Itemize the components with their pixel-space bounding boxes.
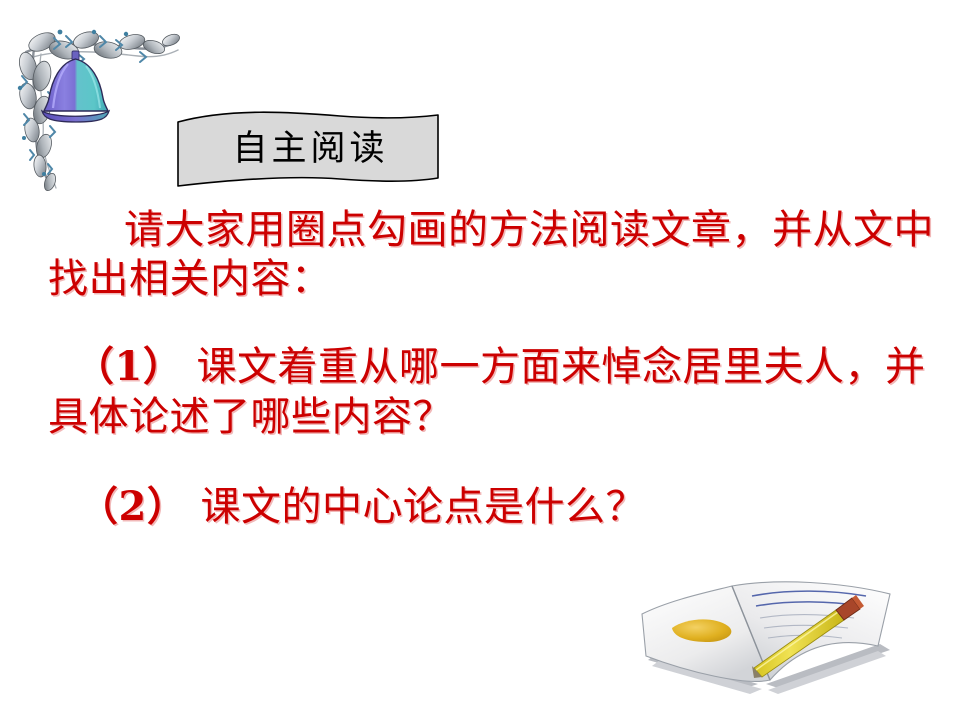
slide-canvas: 自主阅读 请大家用圈点勾画的方法阅读文章，并从文中找出相关内容： （1） 课文着… (0, 0, 960, 720)
bell-icon (42, 51, 109, 122)
open-book-with-pencil-icon (628, 576, 924, 708)
question-2-paragraph: （2） 课文的中心论点是什么？ (48, 482, 938, 532)
intro-paragraph: 请大家用圈点勾画的方法阅读文章，并从文中找出相关内容： (48, 206, 938, 304)
question-2-text: 课文的中心论点是什么？ (187, 484, 646, 530)
question-1-number: （1） (74, 343, 183, 390)
question-2-number: （2） (78, 483, 187, 530)
body-text-block: 请大家用圈点勾画的方法阅读文章，并从文中找出相关内容： （1） 课文着重从哪一方… (48, 206, 938, 532)
title-banner-shape (170, 106, 445, 192)
question-1-paragraph: （1） 课文着重从哪一方面来悼念居里夫人，并具体论述了哪些内容？ (48, 342, 938, 441)
holly-bell-corner-decoration-icon (8, 14, 183, 194)
